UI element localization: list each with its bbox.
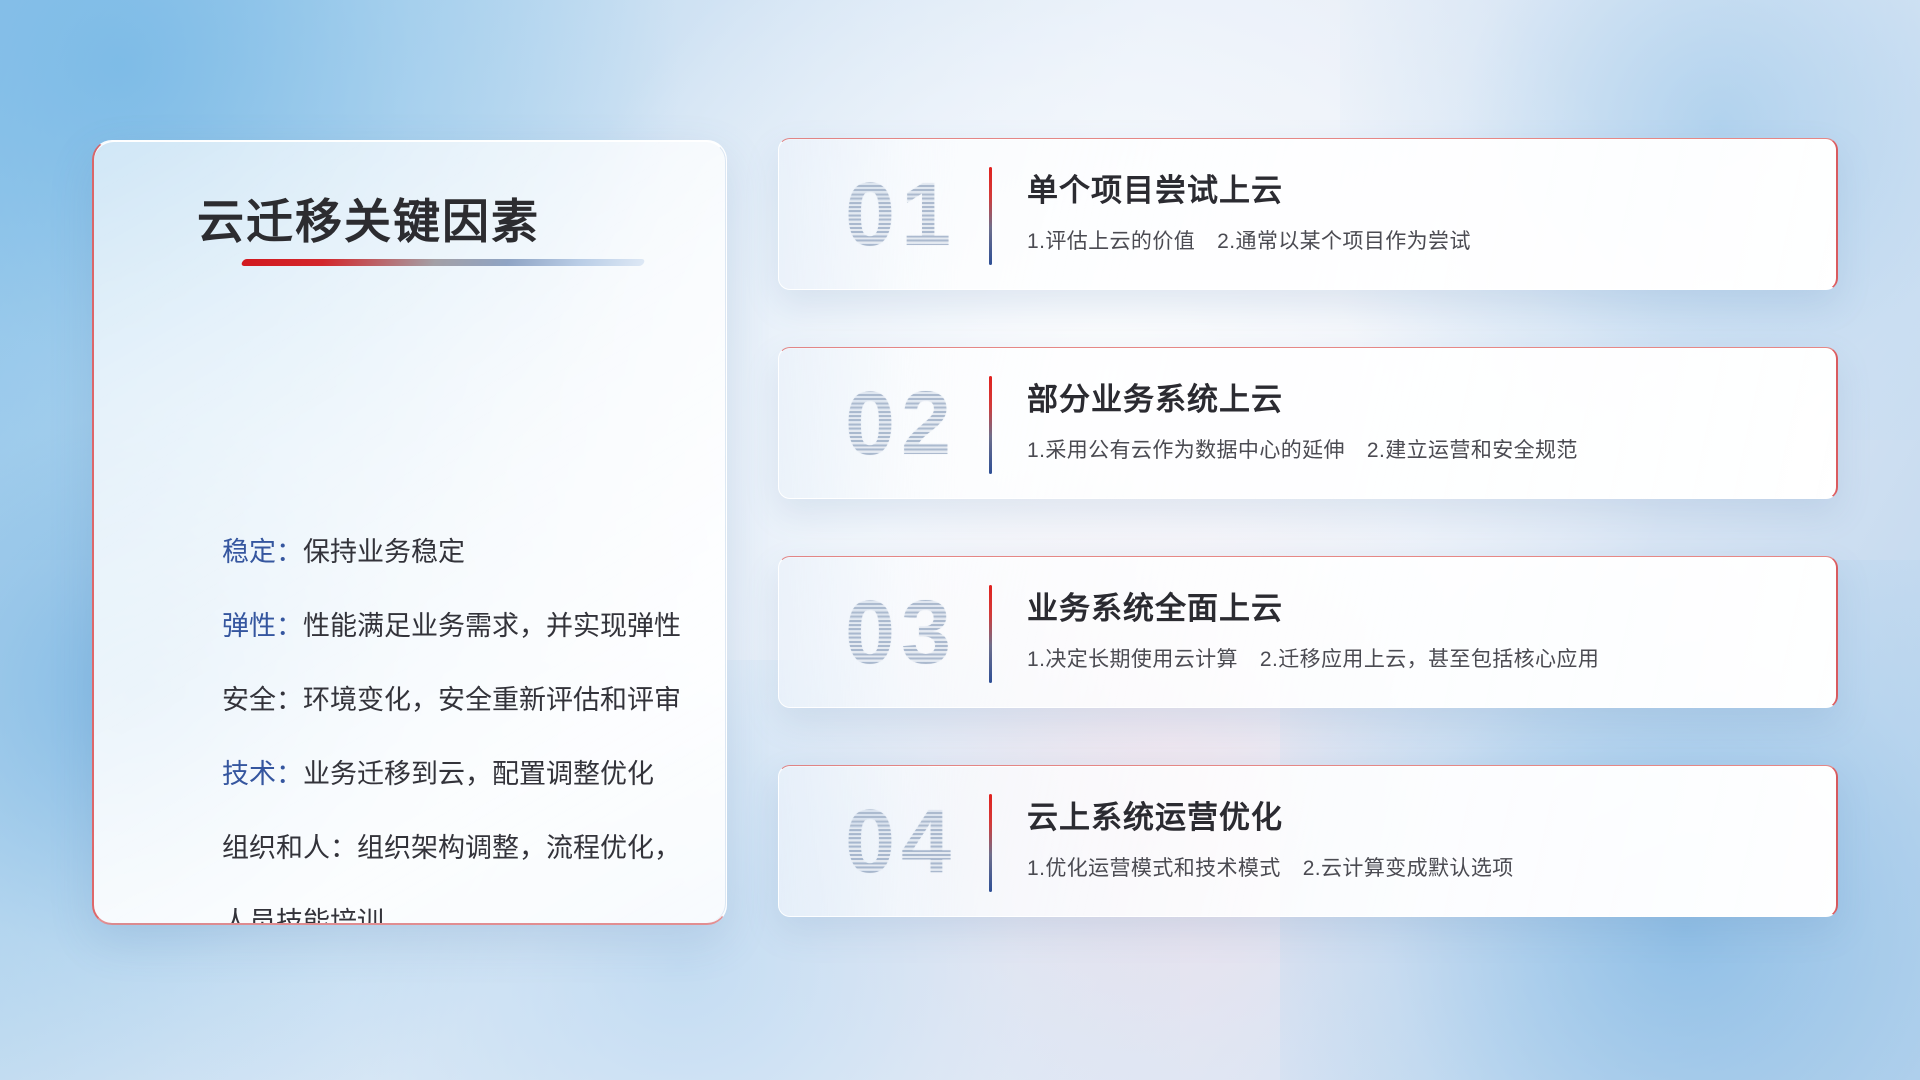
step-accent-bar — [989, 794, 992, 892]
slide-stage: 云迁移关键因素 稳定：保持业务稳定 弹性：性能满足业务需求，并实现弹性 安全：环… — [0, 0, 1920, 1080]
step-description: 1.优化运营模式和技术模式2.云计算变成默认选项 — [1027, 852, 1514, 882]
step-number-text: 01 — [845, 164, 957, 267]
step-accent-bar — [989, 167, 992, 265]
list-item-key: 安全： — [222, 685, 303, 715]
list-item-text: 业务迁移到云，配置调整优化 — [303, 759, 654, 789]
list-item-text: 环境变化，安全重新评估和评审 — [303, 685, 681, 715]
key-factors-title: 云迁移关键因素 — [197, 183, 540, 252]
step-description-part-1: 1.决定长期使用云计算 — [1027, 648, 1238, 671]
step-description-part-2: 2.迁移应用上云，甚至包括核心应用 — [1260, 648, 1599, 671]
step-card-04[interactable]: 04 云上系统运营优化 1.优化运营模式和技术模式2.云计算变成默认选项 — [778, 765, 1838, 917]
list-item-key: 组织和人： — [222, 833, 357, 863]
step-title: 云上系统运营优化 — [1027, 792, 1283, 837]
list-item-key: 弹性： — [222, 611, 303, 641]
step-accent-bar — [989, 585, 992, 683]
step-number-text: 04 — [845, 791, 957, 894]
list-item: 技术：业务迁移到云，配置调整优化 — [222, 737, 682, 811]
list-item: 弹性：性能满足业务需求，并实现弹性 — [222, 589, 682, 663]
step-title: 业务系统全面上云 — [1027, 583, 1283, 628]
step-number-watermark: 03 — [811, 573, 991, 693]
step-number-text: 03 — [845, 582, 957, 685]
title-underline-accent — [241, 259, 646, 266]
migration-steps-list: 01 单个项目尝试上云 1.评估上云的价值2.通常以某个项目作为尝试 02 部分… — [778, 138, 1838, 974]
step-description-part-1: 1.采用公有云作为数据中心的延伸 — [1027, 439, 1345, 462]
step-number-watermark: 01 — [811, 155, 991, 275]
list-item-key: 稳定： — [222, 537, 303, 567]
list-item-text: 人员技能培训 — [222, 907, 384, 925]
step-card-03[interactable]: 03 业务系统全面上云 1.决定长期使用云计算2.迁移应用上云，甚至包括核心应用 — [778, 556, 1838, 708]
step-description: 1.决定长期使用云计算2.迁移应用上云，甚至包括核心应用 — [1027, 643, 1599, 673]
step-number-watermark: 02 — [811, 364, 991, 484]
step-description: 1.采用公有云作为数据中心的延伸2.建立运营和安全规范 — [1027, 434, 1578, 464]
step-description-part-1: 1.优化运营模式和技术模式 — [1027, 857, 1281, 880]
step-number-watermark: 04 — [811, 782, 991, 902]
step-card-01[interactable]: 01 单个项目尝试上云 1.评估上云的价值2.通常以某个项目作为尝试 — [778, 138, 1838, 290]
step-description: 1.评估上云的价值2.通常以某个项目作为尝试 — [1027, 225, 1471, 255]
step-title: 单个项目尝试上云 — [1027, 165, 1283, 210]
list-item: 组织和人：组织架构调整，流程优化， — [222, 811, 682, 885]
step-card-02[interactable]: 02 部分业务系统上云 1.采用公有云作为数据中心的延伸2.建立运营和安全规范 — [778, 347, 1838, 499]
key-factors-list: 稳定：保持业务稳定 弹性：性能满足业务需求，并实现弹性 安全：环境变化，安全重新… — [222, 515, 682, 925]
step-description-part-1: 1.评估上云的价值 — [1027, 230, 1195, 253]
list-item: 安全：环境变化，安全重新评估和评审 — [222, 663, 682, 737]
step-description-part-2: 2.云计算变成默认选项 — [1303, 857, 1514, 880]
step-description-part-2: 2.建立运营和安全规范 — [1367, 439, 1578, 462]
step-accent-bar — [989, 376, 992, 474]
list-item: 人员技能培训 — [222, 885, 682, 925]
list-item-text: 性能满足业务需求，并实现弹性 — [303, 611, 681, 641]
list-item-text: 组织架构调整，流程优化， — [357, 833, 681, 863]
key-factors-card: 云迁移关键因素 稳定：保持业务稳定 弹性：性能满足业务需求，并实现弹性 安全：环… — [92, 140, 727, 925]
list-item: 稳定：保持业务稳定 — [222, 515, 682, 589]
step-number-text: 02 — [845, 373, 957, 476]
list-item-key: 技术： — [222, 759, 303, 789]
step-title: 部分业务系统上云 — [1027, 374, 1283, 419]
step-description-part-2: 2.通常以某个项目作为尝试 — [1217, 230, 1471, 253]
list-item-text: 保持业务稳定 — [303, 537, 465, 567]
